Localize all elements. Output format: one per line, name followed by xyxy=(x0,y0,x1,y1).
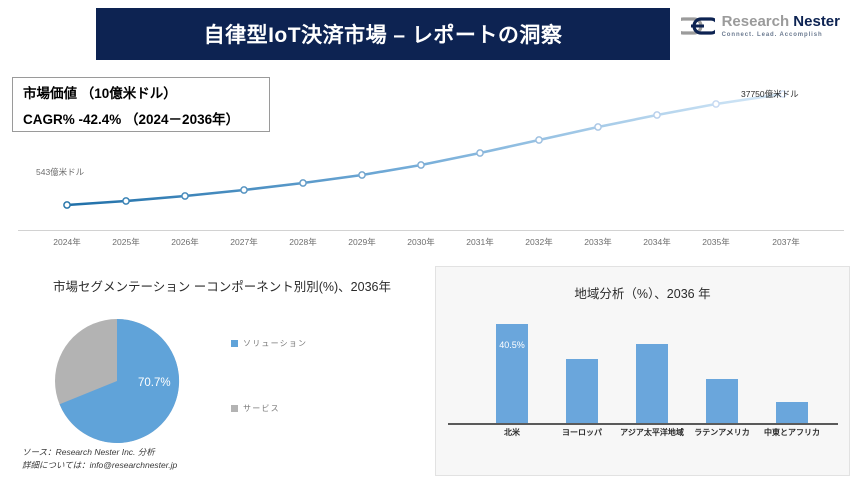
regional-bar-chart: 40.5% xyxy=(456,313,831,423)
source-line-1: ソース：Research Nester Inc. 分析 xyxy=(22,446,177,459)
logo-brand-research: Research xyxy=(722,13,790,30)
logo-brand-name: Research Nester xyxy=(722,14,840,29)
logo-tagline: Connect. Lead. Accomplish xyxy=(722,32,840,38)
x-tick: 2028年 xyxy=(289,236,316,248)
research-nester-logo-icon xyxy=(681,15,715,37)
bar-value-label: 40.5% xyxy=(496,340,528,350)
bar-middle-east-africa xyxy=(776,402,808,423)
pie-value-label: 70.7% xyxy=(138,377,171,389)
x-tick: 2029年 xyxy=(348,236,375,248)
legend-swatch-solution-icon xyxy=(231,340,238,347)
x-tick: 2031年 xyxy=(466,236,493,248)
x-tick: 2035年 xyxy=(702,236,729,248)
x-tick: 2025年 xyxy=(112,236,139,248)
end-value-annotation: 37750億米ドル xyxy=(741,88,799,100)
legend-item-services[interactable]: サービス xyxy=(231,403,331,414)
bar-europe xyxy=(566,359,598,423)
legend-label-services: サービス xyxy=(243,403,280,414)
bar-latin-america xyxy=(706,379,738,423)
x-axis-line xyxy=(18,230,844,231)
bar-asia-pacific xyxy=(636,344,668,423)
bar-column[interactable] xyxy=(636,313,668,423)
bar-column[interactable] xyxy=(566,313,598,423)
x-axis-ticks: 2024年 2025年 2026年 2027年 2028年 2029年 2030… xyxy=(0,236,862,256)
start-value-annotation: 543億米ドル xyxy=(36,166,84,178)
header-banner: 自律型IoT決済市場 – レポートの洞察 xyxy=(96,8,670,60)
bar-label-middle-east-africa: 中東とアフリカ xyxy=(764,427,820,438)
bar-category-labels: 北米 ヨーロッパ アジア太平洋地域 ラテンアメリカ 中東とアフリカ xyxy=(436,427,851,447)
bar-column[interactable]: 40.5% xyxy=(496,313,528,423)
legend-swatch-services-icon xyxy=(231,405,238,412)
regional-analysis-panel: 地域分析（%）、2036 年 40.5% 北米 ヨーロッパ アジア太平洋地域 ラ… xyxy=(435,266,850,476)
x-tick: 2032年 xyxy=(525,236,552,248)
x-tick: 2033年 xyxy=(584,236,611,248)
trend-line xyxy=(67,94,783,205)
data-point-markers xyxy=(64,91,786,208)
bar-label-asia-pacific: アジア太平洋地域 xyxy=(620,427,684,438)
x-tick: 2034年 xyxy=(643,236,670,248)
bar-label-north-america: 北米 xyxy=(504,427,520,438)
bar-north-america: 40.5% xyxy=(496,324,528,423)
legend-item-solution[interactable]: ソリューション xyxy=(231,338,331,349)
source-line-2: 詳細については：info@researchnester.jp xyxy=(22,459,177,472)
bar-column[interactable] xyxy=(706,313,738,423)
x-tick: 2037年 xyxy=(772,236,799,248)
logo-brand-nester: Nester xyxy=(793,13,840,30)
bar-label-europe: ヨーロッパ xyxy=(562,427,602,438)
bar-column[interactable] xyxy=(776,313,808,423)
segmentation-title: 市場セグメンテーション ーコンポーネント別別(%)、2036年 xyxy=(12,266,432,297)
x-tick: 2026年 xyxy=(171,236,198,248)
x-tick: 2027年 xyxy=(230,236,257,248)
bar-label-latin-america: ラテンアメリカ xyxy=(694,427,750,438)
x-tick: 2030年 xyxy=(407,236,434,248)
legend-label-solution: ソリューション xyxy=(243,338,307,349)
regional-analysis-title: 地域分析（%）、2036 年 xyxy=(436,267,849,304)
x-tick: 2024年 xyxy=(53,236,80,248)
segmentation-panel: 市場セグメンテーション ーコンポーネント別別(%)、2036年 70.7% ソリ… xyxy=(12,266,432,476)
brand-logo: Research Nester Connect. Lead. Accomplis… xyxy=(681,14,840,38)
pie-legend: ソリューション サービス xyxy=(231,338,331,468)
bar-chart-baseline xyxy=(448,423,838,425)
logo-text: Research Nester Connect. Lead. Accomplis… xyxy=(722,14,840,38)
source-note: ソース：Research Nester Inc. 分析 詳細については：info… xyxy=(22,446,177,472)
page-title: 自律型IoT決済市場 – レポートの洞察 xyxy=(204,19,563,49)
